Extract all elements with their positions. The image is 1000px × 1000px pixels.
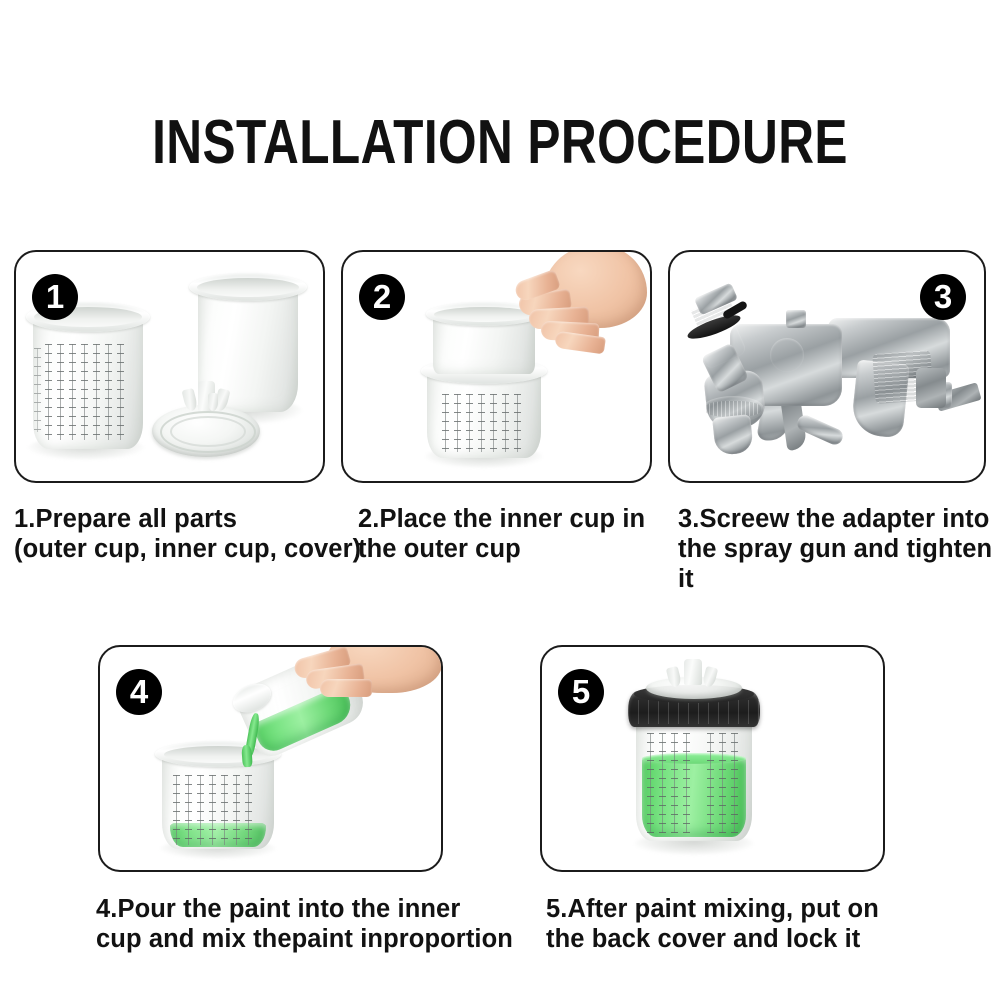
step-caption-4: 4.Pour the paint into the inner cup and … [96, 894, 526, 954]
cup-scale-markings [172, 775, 262, 845]
closed-cup-with-paint-illustration [620, 661, 768, 857]
cup-scale-markings [646, 733, 742, 833]
graduated-measuring-cup-illustration [22, 296, 152, 461]
step-caption-1: 1.Prepare all parts (outer cup, inner cu… [14, 504, 364, 564]
step-caption-3: 3.Screew the adapter into the spray gun … [678, 504, 1000, 594]
cup-scale-markings [441, 394, 523, 452]
step-panel-2: 2 [341, 250, 652, 483]
step-caption-2: 2.Place the inner cup in the outer cup [358, 504, 668, 564]
step-panel-4: 4 [98, 645, 443, 872]
step-caption-5: 5.After paint mixing, put on the back co… [546, 894, 926, 954]
step-badge-5: 5 [558, 669, 604, 715]
step-badge-1: 1 [32, 274, 78, 320]
step-panel-5: 5 [540, 645, 885, 872]
step-badge-4: 4 [116, 669, 162, 715]
page-title: INSTALLATION PROCEDURE [100, 112, 900, 174]
step-panel-1: 1 [14, 250, 325, 483]
spout [684, 659, 702, 685]
step-panel-3: 3 [668, 250, 986, 483]
hand-illustration [296, 645, 443, 729]
cup-scale-markings [44, 344, 132, 440]
cover-with-spout-illustration [150, 377, 262, 467]
fluid-knob [770, 338, 804, 372]
step-badge-3: 3 [920, 274, 966, 320]
hand-illustration [511, 252, 651, 360]
step-badge-2: 2 [359, 274, 405, 320]
